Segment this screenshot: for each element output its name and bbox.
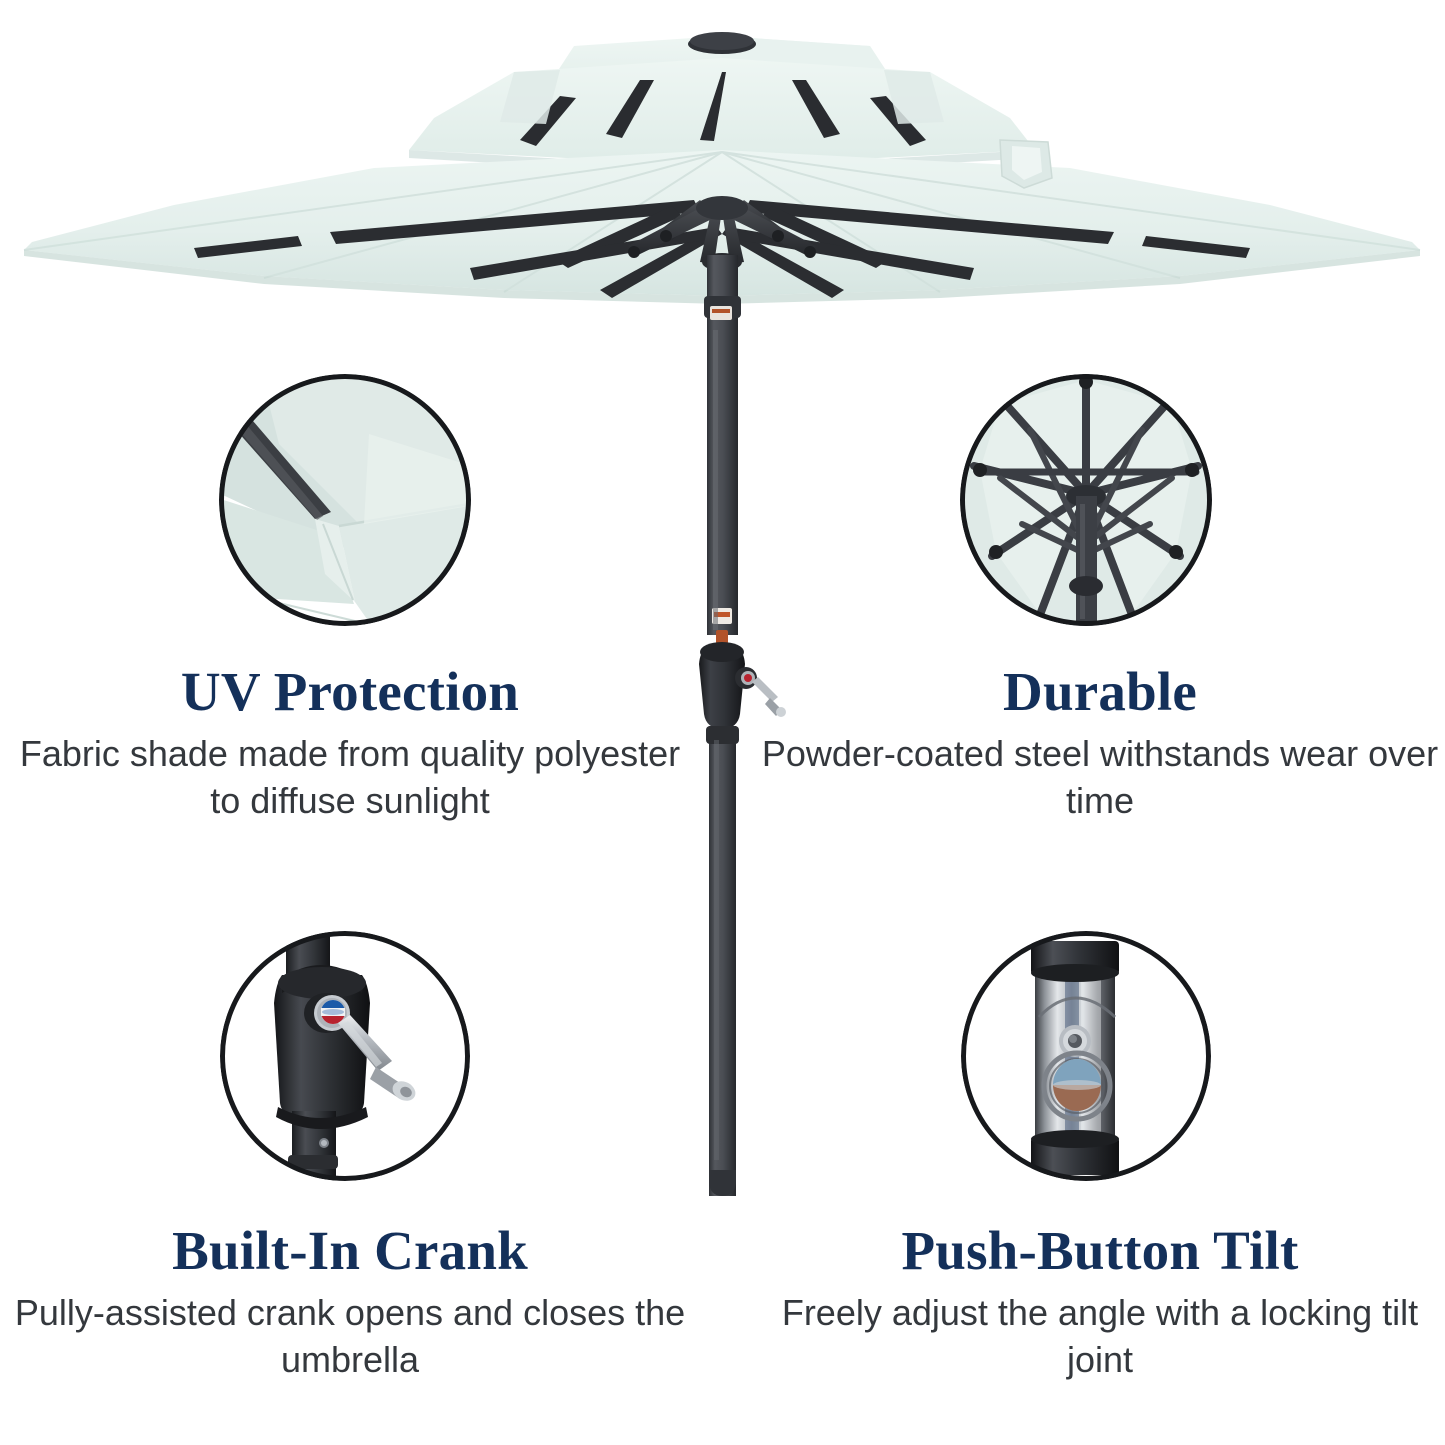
feature-description-durable: Powder-coated steel withstands wear over… [760, 731, 1440, 825]
feature-text-built-in-crank: Built-In Crank Pully-assisted crank open… [10, 1222, 690, 1384]
tilt-joint-illustration [961, 931, 1211, 1181]
feature-text-push-button-tilt: Push-Button Tilt Freely adjust the angle… [760, 1222, 1440, 1384]
umbrella-underside-ribs-icon [960, 374, 1212, 626]
feature-title-built-in-crank: Built-In Crank [10, 1222, 690, 1280]
feature-description-built-in-crank: Pully-assisted crank opens and closes th… [10, 1290, 690, 1384]
tilt-joint-closeup-icon [961, 931, 1211, 1181]
crank-handle-closeup-icon [220, 931, 470, 1181]
canopy-hub [628, 196, 816, 271]
canopy-tier-middle [409, 58, 1035, 176]
feature-text-durable: Durable Powder-coated steel withstands w… [760, 663, 1440, 825]
feature-title-push-button-tilt: Push-Button Tilt [760, 1222, 1440, 1280]
feature-title-durable: Durable [760, 663, 1440, 721]
canopy-tier-top [544, 32, 900, 104]
underside-ribs-illustration [960, 374, 1212, 626]
feature-text-uv-protection: UV Protection Fabric shade made from qua… [10, 663, 690, 825]
canopy-tier-main [24, 140, 1420, 304]
crank-illustration [220, 931, 470, 1181]
fabric-corner-closeup-icon [219, 374, 471, 626]
feature-description-uv-protection: Fabric shade made from quality polyester… [10, 731, 690, 825]
feature-description-push-button-tilt: Freely adjust the angle with a locking t… [760, 1290, 1440, 1384]
fabric-corner-illustration [219, 374, 471, 626]
product-feature-infographic: UV Protection Fabric shade made from qua… [0, 0, 1445, 1445]
feature-title-uv-protection: UV Protection [10, 663, 690, 721]
